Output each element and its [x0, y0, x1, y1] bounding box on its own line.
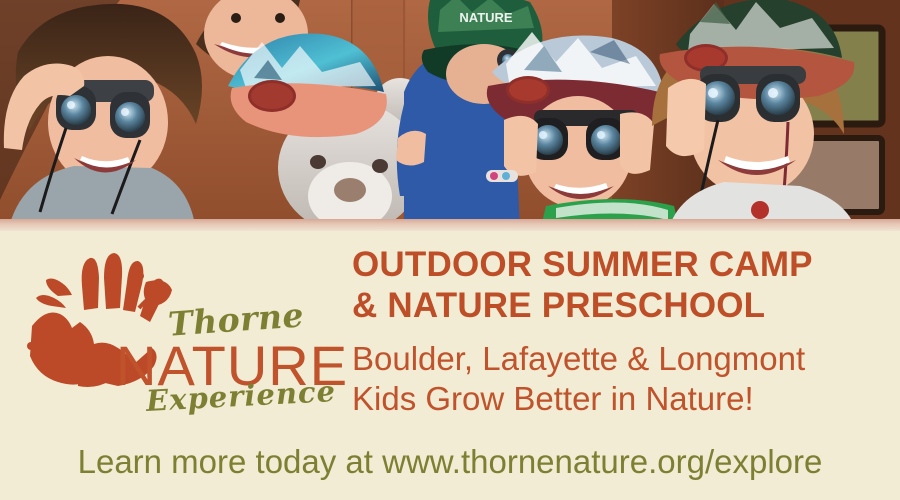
svg-text:NATURE: NATURE [459, 10, 513, 25]
photo-ledge [0, 219, 900, 231]
headline-line-2: & NATURE PRESCHOOL [352, 285, 887, 326]
subheadline-line-2: Kids Grow Better in Nature! [352, 379, 887, 419]
cta-learn-more-link[interactable]: Learn more today at www.thornenature.org… [0, 443, 900, 481]
advertisement-banner: NATURE [0, 0, 900, 500]
headline-line-1: OUTDOOR SUMMER CAMP [352, 244, 887, 285]
copy-spacer [352, 326, 887, 339]
thorne-nature-experience-logo[interactable]: Thorne NATURE Experience [18, 248, 338, 423]
hero-photo: NATURE [0, 0, 900, 231]
copy-block: OUTDOOR SUMMER CAMP & NATURE PRESCHOOL B… [352, 244, 887, 419]
subheadline-line-1: Boulder, Lafayette & Longmont [352, 339, 887, 379]
